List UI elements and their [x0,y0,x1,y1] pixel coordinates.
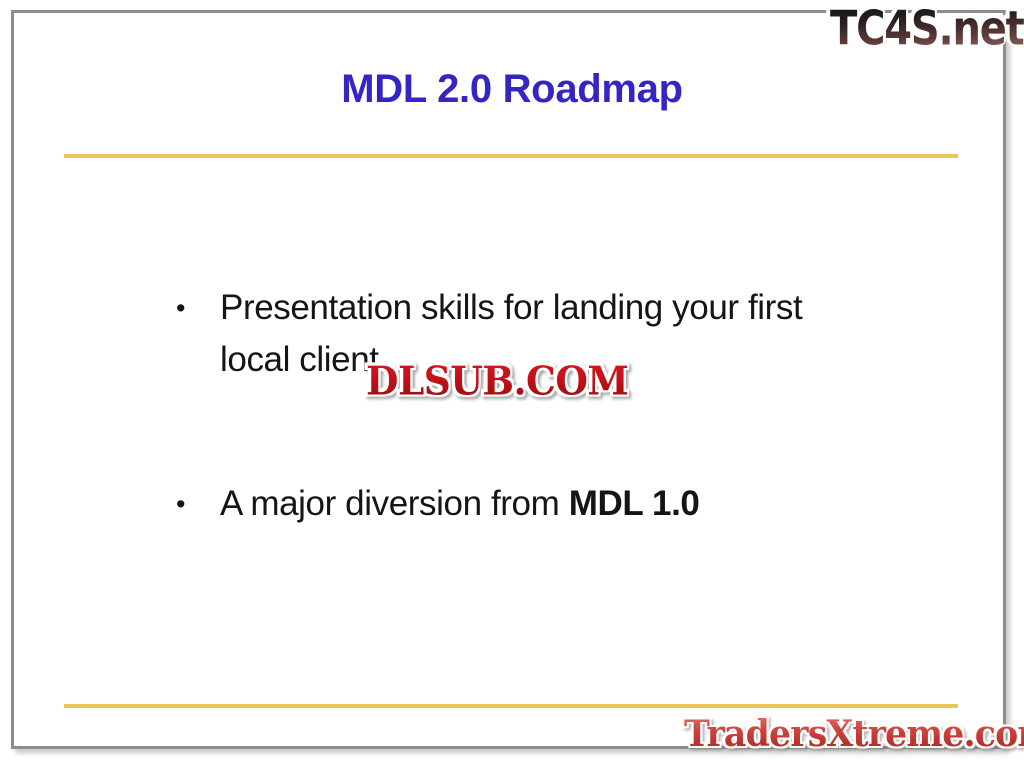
bullet-list-item: • A major diversion from MDL 1.0 [170,478,900,530]
bullet-text-segment: A major diversion from [220,484,569,523]
bullet-list-item: • Presentation skills for landing your f… [170,282,900,386]
bullet-item-text: Presentation skills for landing your fir… [220,282,868,386]
bullet-marker-icon: • [170,282,220,334]
slide-body-content: • Presentation skills for landing your f… [170,282,900,530]
slide-title: MDL 2.0 Roadmap [0,68,1024,111]
divider-line-bottom [64,704,958,708]
bullet-marker-icon: • [170,478,220,530]
bullet-item-text: A major diversion from MDL 1.0 [220,478,868,530]
slide-canvas: MDL 2.0 Roadmap • Presentation skills fo… [0,0,1024,768]
bullet-text-segment-bold: MDL 1.0 [569,484,700,523]
bullet-text-segment: Presentation skills for landing your fir… [220,288,802,379]
divider-line-top [64,154,958,158]
